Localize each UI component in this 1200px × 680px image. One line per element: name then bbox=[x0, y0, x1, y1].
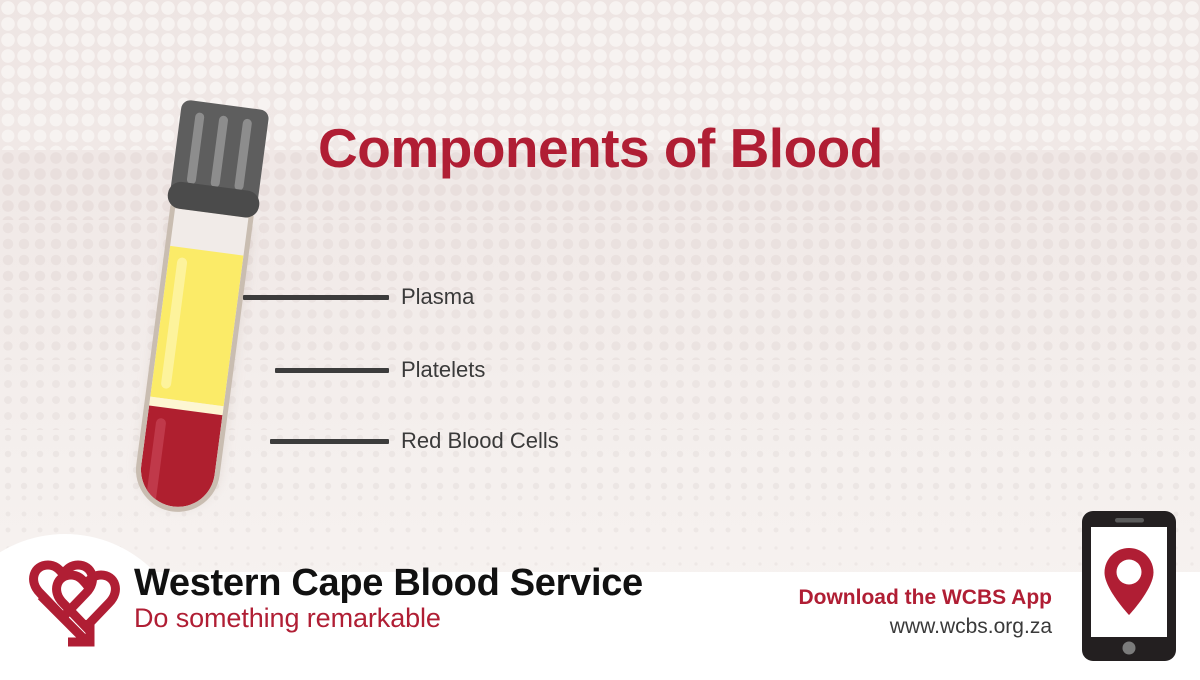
tube-cap-rib bbox=[186, 112, 204, 185]
leader-line-red-blood-cells bbox=[270, 439, 389, 444]
tube-cap-rib bbox=[234, 118, 252, 191]
leader-line-plasma bbox=[243, 295, 389, 300]
page-title: Components of Blood bbox=[318, 116, 883, 180]
smartphone-with-map-pin-icon bbox=[1082, 511, 1176, 661]
app-promo-website[interactable]: www.wcbs.org.za bbox=[798, 615, 1052, 639]
leader-line-platelets bbox=[275, 368, 389, 373]
blood-tube-illustration bbox=[150, 95, 350, 525]
halftone-dot-row-1 bbox=[0, 0, 1200, 80]
app-promo-headline: Download the WCBS App bbox=[798, 586, 1052, 610]
label-red-blood-cells: Red Blood Cells bbox=[401, 428, 559, 454]
infographic-canvas: Components of Blood bbox=[0, 0, 1200, 680]
label-plasma: Plasma bbox=[401, 284, 474, 310]
organisation-name: Western Cape Blood Service bbox=[134, 562, 643, 605]
organisation-logo[interactable]: Western Cape Blood Service Do something … bbox=[24, 556, 644, 666]
tube-cap bbox=[168, 99, 270, 222]
interlocking-hearts-arrow-logo-icon bbox=[24, 558, 124, 662]
tube-cap-rib bbox=[210, 115, 228, 188]
app-promo-text: Download the WCBS App www.wcbs.org.za bbox=[798, 586, 1052, 639]
logo-wordmark: Western Cape Blood Service Do something … bbox=[134, 562, 643, 634]
label-platelets: Platelets bbox=[401, 357, 485, 383]
organisation-tagline: Do something remarkable bbox=[134, 603, 643, 634]
